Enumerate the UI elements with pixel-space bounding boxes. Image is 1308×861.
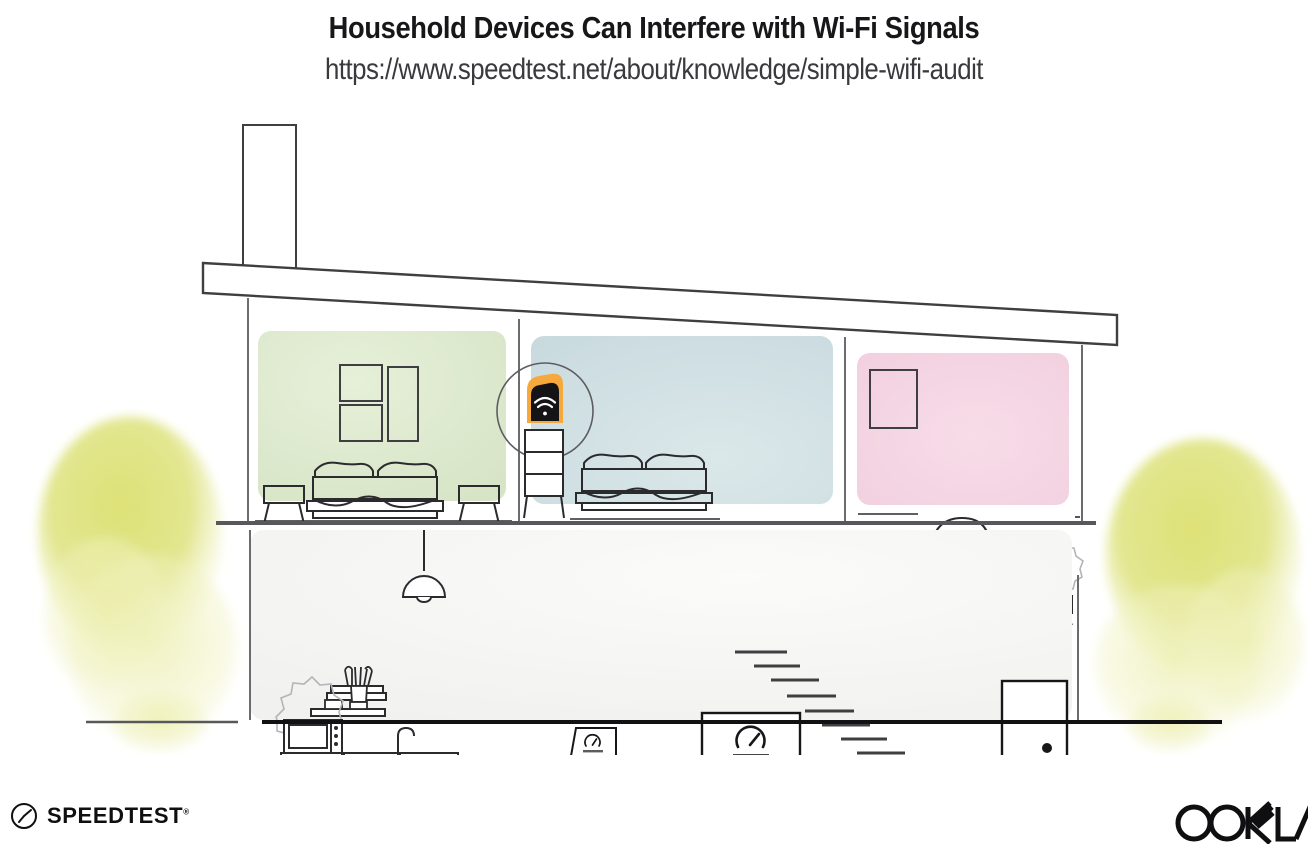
ookla-logo: ® <box>1172 798 1308 849</box>
microwave <box>284 720 342 753</box>
foliage-right <box>1094 439 1305 753</box>
kitchen-counter <box>281 753 458 755</box>
speedtest-trademark: ® <box>183 808 190 817</box>
room-master-bedroom <box>255 331 512 524</box>
wifi-router[interactable] <box>527 374 563 423</box>
footer: SPEEDTEST® ® <box>0 790 1308 861</box>
speedometer-icon <box>10 802 38 830</box>
page-title: Household Devices Can Interfere with Wi-… <box>78 0 1229 46</box>
speedtest-wordmark: SPEEDTEST <box>47 803 183 828</box>
foliage-left <box>38 417 238 753</box>
ookla-wordmark <box>1178 803 1308 843</box>
infographic-page: Household Devices Can Interfere with Wi-… <box>0 0 1308 861</box>
television-speedtest <box>702 713 800 755</box>
page-url: https://www.speedtest.net/about/knowledg… <box>92 46 1217 87</box>
front-door[interactable] <box>1002 681 1067 755</box>
shelf-lower <box>311 709 385 716</box>
speedtest-logo: SPEEDTEST® <box>10 802 190 830</box>
house-illustration <box>0 105 1308 755</box>
sink-faucet <box>398 728 414 753</box>
microwave-controls <box>334 726 338 746</box>
header: Household Devices Can Interfere with Wi-… <box>0 0 1308 87</box>
door-knob <box>1042 743 1052 753</box>
laptop-speedtest <box>567 728 621 755</box>
shelving-unit <box>525 430 563 496</box>
chimney <box>243 125 296 280</box>
